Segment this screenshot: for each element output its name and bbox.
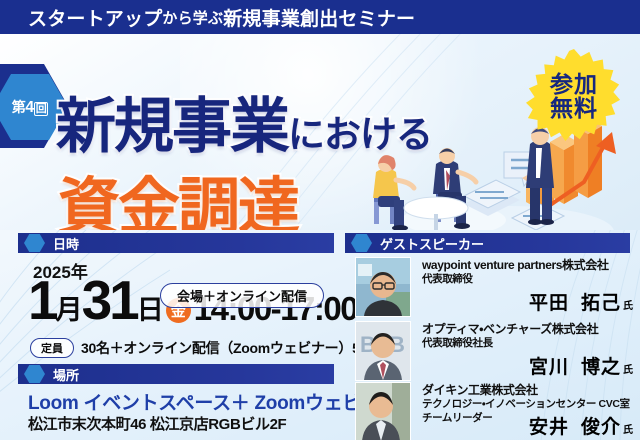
capacity-value: 30名＋オンライン配信（Zoomウェビナー）50名 — [81, 338, 381, 358]
speaker-info: オプティマ・ベンチャーズ株式会社 代表取締役社長 宮川 博之 氏 — [422, 321, 633, 379]
speaker-photo — [355, 382, 411, 440]
speaker-company: ダイキン工業株式会社 — [422, 383, 633, 398]
free-admission-badge: 参加 無料 — [526, 48, 622, 144]
edition-label: 第4回 — [12, 97, 48, 117]
speaker-family-name: 安井 — [529, 412, 569, 439]
headline-line-1: 新規事業における — [56, 78, 432, 165]
speaker-given-name: 博之 — [581, 352, 621, 379]
hexagon-marker-icon — [24, 365, 45, 383]
speaker-honorific: 氏 — [623, 421, 633, 436]
event-format-pill: 会場＋オンライン配信 — [160, 283, 324, 308]
venue-name: Loom イベントスペース＋ Zoomウェビナー — [28, 388, 399, 415]
edition-number: 4 — [25, 99, 33, 116]
section-header-guest-speaker: ゲストスピーカー — [345, 233, 630, 253]
hexagon-marker-icon — [24, 234, 45, 252]
speaker-role: 代表取締役社長 — [422, 337, 633, 351]
section-header-date: 日時 — [18, 233, 334, 253]
speaker-given-name: 拓己 — [581, 288, 621, 315]
banner-mid: から学ぶ — [162, 7, 223, 28]
top-banner: スタートアップ から学ぶ 新規事業創出セミナー — [0, 0, 640, 34]
speaker-company: waypoint venture partners株式会社 — [422, 258, 633, 273]
edition-prefix: 第 — [12, 99, 26, 115]
speaker-card: waypoint venture partners株式会社 代表取締役 平田 拓… — [355, 257, 633, 319]
speaker-company: オプティマ・ベンチャーズ株式会社 — [422, 322, 633, 337]
speaker-portrait-icon — [356, 383, 410, 440]
speaker-name: 宮川 博之 氏 — [422, 352, 633, 379]
event-month-unit: 月 — [56, 297, 82, 326]
speaker-role: テクノロジー・イノベーションセンター CVC室 — [422, 398, 633, 412]
edition-suffix: 回 — [34, 102, 49, 116]
speaker-info: waypoint venture partners株式会社 代表取締役 平田 拓… — [422, 257, 633, 315]
speaker-name: 平田 拓己 氏 — [422, 288, 633, 315]
section-title-place: 場所 — [53, 365, 79, 384]
speaker-given-name: 俊介 — [581, 412, 621, 439]
speaker-honorific: 氏 — [623, 297, 633, 312]
speaker-family-name: 平田 — [529, 288, 569, 315]
free-badge-text: 参加 無料 — [526, 48, 622, 144]
speaker-photo: B B — [355, 321, 411, 381]
headline-sub-text: における — [288, 114, 432, 155]
speaker-role: 代表取締役 — [422, 273, 633, 287]
banner-tail: 新規事業創出セミナー — [223, 4, 415, 31]
speaker-portrait-icon — [356, 258, 410, 316]
section-title-guest: ゲストスピーカー — [380, 234, 484, 253]
seminar-flyer: 第4回 新規事業における 資金調達 参加 無料 スタートアップ から学ぶ 新規事… — [0, 0, 640, 440]
hexagon-marker-icon — [351, 234, 372, 252]
top-banner-text: スタートアップ から学ぶ 新規事業創出セミナー — [28, 0, 415, 34]
event-month-number: 1 — [28, 275, 56, 326]
speaker-card: B B オプティマ・ベンチャーズ株式会社 代表取締役社長 宮川 博之 氏 — [355, 321, 633, 383]
section-title-date: 日時 — [53, 234, 79, 253]
speaker-info: ダイキン工業株式会社 テクノロジー・イノベーションセンター CVC室 チームリー… — [422, 382, 633, 439]
venue-address: 松江市末次本町46 松江京店RGBビル2F — [28, 413, 286, 434]
event-day-number: 31 — [82, 275, 137, 326]
hero-band: 第4回 新規事業における 資金調達 参加 無料 — [0, 34, 640, 230]
section-header-place: 場所 — [18, 364, 334, 384]
speaker-photo — [355, 257, 411, 317]
capacity-label: 定員 — [30, 338, 74, 358]
speaker-honorific: 氏 — [623, 361, 633, 376]
free-badge-line2: 無料 — [550, 96, 598, 120]
event-day-unit: 日 — [137, 297, 163, 326]
speaker-portrait-icon: B B — [356, 322, 410, 380]
free-badge-line1: 参加 — [550, 72, 598, 96]
banner-lead: スタートアップ — [28, 4, 162, 31]
headline-main-text: 新規事業 — [56, 93, 288, 160]
headline-line-2: 資金調達 — [58, 156, 298, 230]
speaker-card: ダイキン工業株式会社 テクノロジー・イノベーションセンター CVC室 チームリー… — [355, 382, 633, 440]
capacity-row: 定員 30名＋オンライン配信（Zoomウェビナー）50名 — [30, 338, 381, 358]
speaker-family-name: 宮川 — [529, 352, 569, 379]
